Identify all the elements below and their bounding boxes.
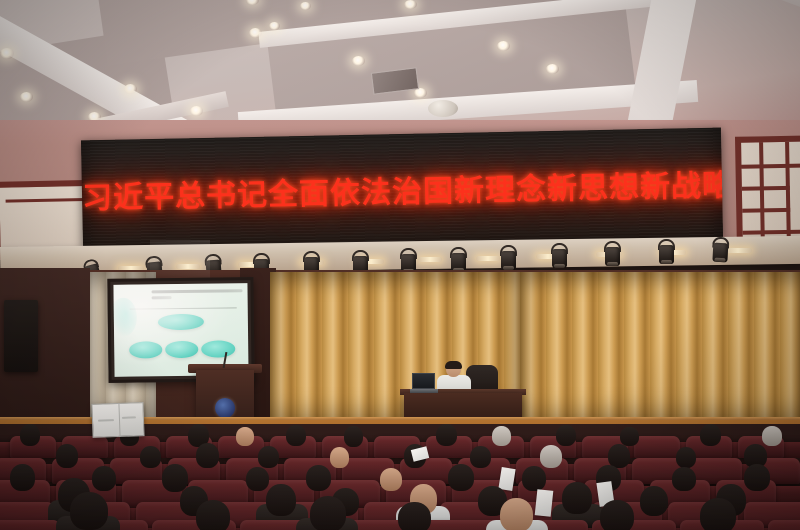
laptop [412, 373, 438, 393]
slide-title-placeholder [151, 289, 242, 305]
attendee-head [196, 443, 219, 468]
downlight [0, 48, 14, 59]
stage-light-fixture [500, 245, 517, 271]
projection-screen-surface [113, 283, 248, 377]
attendee-head [500, 498, 533, 530]
seat [768, 520, 800, 530]
presenter-hair [445, 361, 462, 369]
valance-strip-light [418, 257, 442, 262]
attendee-head [344, 426, 363, 447]
downlight [546, 64, 559, 74]
attendee-head [700, 424, 721, 446]
attendee-head [640, 486, 668, 516]
valance-strip-light [176, 264, 200, 269]
handout-paper [535, 489, 554, 517]
downlight [404, 0, 417, 9]
valance-strip-light [476, 256, 500, 261]
downlight [352, 56, 365, 66]
downlight [300, 2, 311, 10]
attendee-head [306, 465, 331, 491]
slide-diagram-node-1 [129, 341, 163, 358]
laptop-screen [412, 373, 435, 389]
ceiling-beam-right-outer [739, 0, 800, 26]
attendee-head [470, 446, 491, 468]
slide-divider [130, 307, 237, 309]
attendee-head [744, 464, 770, 491]
stage-light-fixture [658, 239, 675, 265]
attendee-head [380, 468, 402, 491]
slide-diagram-node-2 [165, 341, 199, 358]
attendee-head [762, 426, 782, 446]
laptop-keyboard [410, 389, 438, 393]
attendee-head [56, 444, 78, 468]
attendee-head [246, 467, 269, 491]
downlight [20, 92, 33, 102]
led-banner-screen: 习近平总书记全面依法治国新理念新思想新战略 [81, 128, 723, 251]
attendee-head [398, 502, 431, 530]
lectern-emblem [215, 398, 235, 418]
audience-seating [0, 424, 800, 530]
attendee-head [436, 424, 457, 446]
attendee-head [196, 500, 230, 530]
attendee-head [522, 466, 546, 491]
attendee-head [562, 482, 592, 514]
seat [634, 436, 680, 458]
attendee-head [286, 425, 306, 446]
attendee-head [258, 446, 279, 468]
attendee-head [70, 492, 108, 530]
slide-decorative-blob [113, 297, 136, 336]
loudspeaker-cabinet [4, 300, 38, 372]
attendee-head [236, 427, 254, 446]
downlight [124, 84, 137, 94]
conference-hall-photo: 习近平总书记全面依法治国新理念新思想新战略 [0, 0, 800, 530]
stage-light-fixture [551, 243, 568, 269]
attendee-head [492, 426, 511, 446]
stage-light-fixture [604, 241, 621, 267]
attendee-head [556, 425, 576, 446]
attendee-head [162, 464, 188, 492]
attendee-head [600, 500, 634, 530]
stage-light-fixture [711, 237, 729, 264]
attendee-head [676, 447, 696, 468]
attendee-head [10, 464, 35, 491]
downlight [190, 106, 203, 116]
smoke-detector [428, 100, 458, 117]
stage-curtain-right [520, 272, 800, 424]
attendee-head [266, 484, 296, 516]
attendee-head [20, 424, 40, 446]
slide-diagram-node-top [158, 314, 204, 330]
downlight [249, 28, 262, 38]
downlight [497, 41, 510, 51]
slide-diagram-node-3 [201, 340, 235, 357]
attendee-head [448, 464, 474, 491]
attendee-head [700, 498, 736, 530]
attendee-head [140, 446, 161, 468]
downlight [269, 22, 280, 30]
led-banner-text: 习近平总书记全面依法治国新理念新思想新战略 [82, 161, 723, 218]
attendee-head [540, 445, 562, 468]
seat [0, 520, 60, 530]
easel-sign [91, 402, 144, 438]
attendee-head [620, 427, 639, 446]
attendee-head [672, 467, 696, 491]
attendee-head [330, 447, 349, 468]
attendee-head [92, 466, 116, 491]
attendee-head [310, 496, 346, 530]
